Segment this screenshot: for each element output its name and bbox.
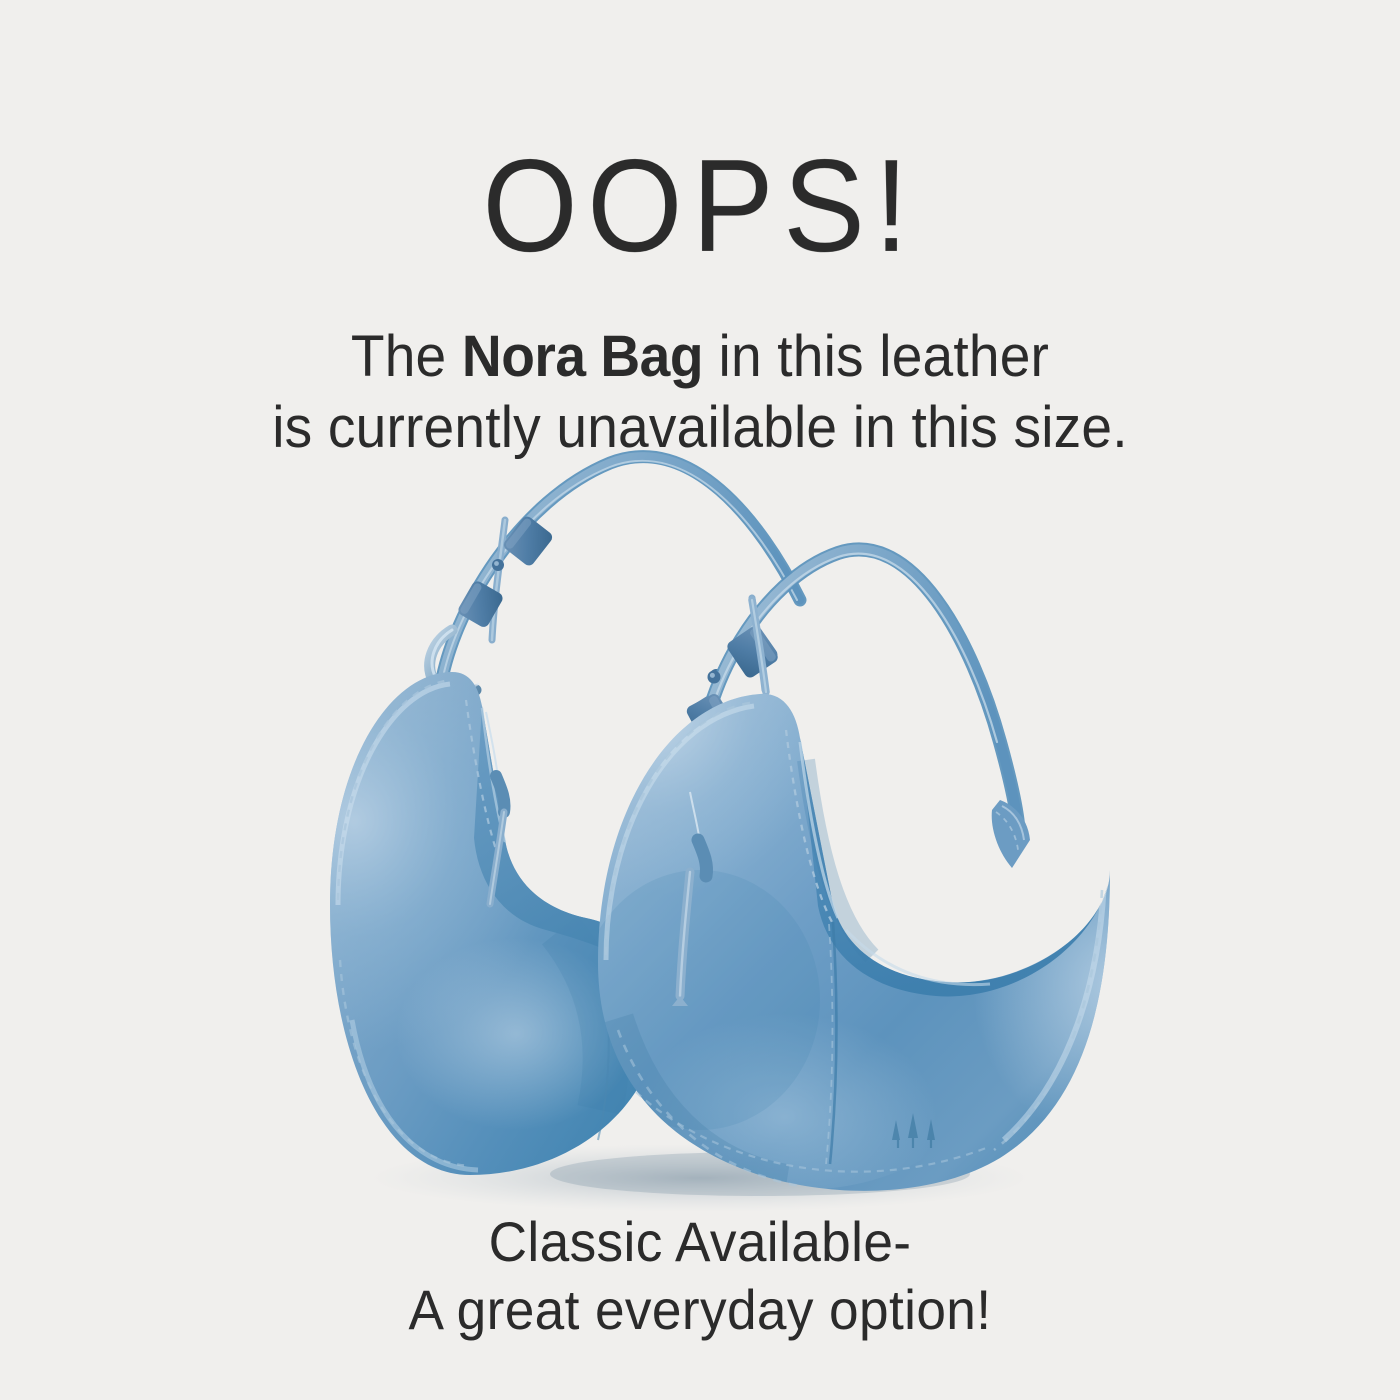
message-suffix: in this leather [703,324,1049,389]
product-name: Nora Bag [462,324,703,389]
availability-message-line-1: The Nora Bag in this leather [35,322,1365,393]
alternative-caption-line-1: Classic Available- [35,1208,1365,1276]
availability-message: The Nora Bag in this leather is currentl… [35,322,1365,464]
alternative-caption-line-2: A great everyday option! [35,1276,1365,1344]
alternative-caption: Classic Available- A great everyday opti… [35,1208,1365,1345]
availability-message-line-2: is currently unavailable in this size. [35,393,1365,464]
back-bag-body [240,670,660,1175]
page-title: OOPS! [49,140,1351,272]
product-error-card: OOPS! The Nora Bag in this leather is cu… [0,0,1400,1400]
message-prefix: The [351,324,462,389]
front-strap-attachment-tab [992,800,1030,868]
front-bag-body [550,630,1190,1191]
front-strap-keeper-upper [725,624,780,680]
strap-keeper-upper [502,514,555,568]
front-bag [550,549,1190,1190]
